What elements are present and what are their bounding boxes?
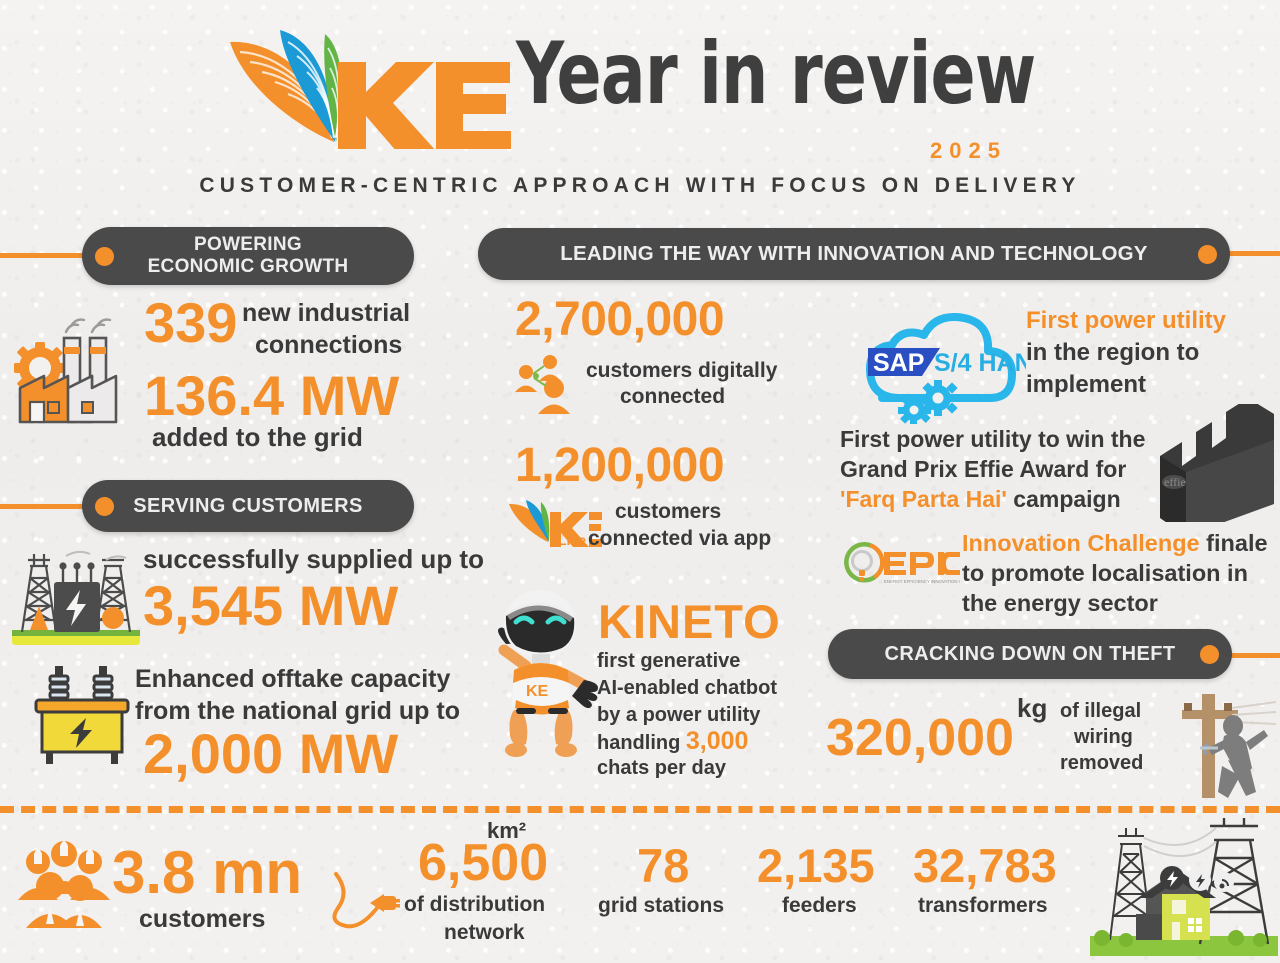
lineman-pole-icon — [1172, 688, 1280, 798]
stat-label-mw-added: added to the grid — [152, 422, 363, 453]
effie-campaign-suffix: campaign — [1007, 486, 1121, 512]
stat-value-offtake-mw: 2,000 MW — [143, 726, 398, 782]
epic-logo-icon: ENERGY EFFICIENCY INNOVATION CHALLENGE — [838, 536, 960, 590]
sap-claim-highlight: First power utility — [1026, 305, 1226, 337]
stat-label-supplied: successfully supplied up to — [143, 544, 484, 575]
section-heading-serving-customers: SERVING CUSTOMERS — [82, 480, 414, 532]
dashed-divider — [0, 806, 1280, 813]
stat-value-app-connected: 1,200,000 — [515, 442, 724, 490]
pill-label-line2: ECONOMIC GROWTH — [148, 256, 349, 278]
effie-line-3: 'Farq Parta Hai' campaign — [840, 484, 1121, 515]
stat-label-new-industrial-1: new industrial — [242, 297, 410, 329]
stat-value-new-industrial-connections: 339 — [144, 295, 237, 351]
stat-label-digitally-connected-1: customers digitally — [586, 356, 777, 385]
infographic-page: Year in review 2025 CUSTOMER-CENTRIC APP… — [0, 0, 1280, 960]
epic-line-1: Innovation Challenge finale — [962, 528, 1268, 559]
section-heading-theft: CRACKING DOWN ON THEFT — [828, 629, 1232, 679]
effie-line-2: Grand Prix Effie Award for — [840, 454, 1126, 485]
stat-value-digitally-connected: 2,700,000 — [515, 296, 724, 344]
sap-logo-text: SAP — [873, 349, 924, 377]
kineto-handling-label: handling — [597, 732, 686, 754]
effie-trophy-label: effie — [1164, 475, 1186, 489]
footer-stat-value-3: 2,135 — [757, 838, 875, 893]
subtitle: CUSTOMER-CENTRIC APPROACH WITH FOCUS ON … — [0, 174, 1280, 198]
page-title: Year in review — [516, 28, 1035, 120]
stat-label-app-connected-2: connected via app — [588, 524, 771, 553]
year-label: 2025 — [930, 138, 1007, 164]
pill-label: SERVING CUSTOMERS — [133, 495, 362, 518]
stat-label-new-industrial-2: connections — [255, 329, 402, 361]
ke-live-label: Live — [558, 532, 586, 548]
stat-unit-kg: kg — [1017, 693, 1047, 724]
sap-product-text: S/4 HANA — [934, 349, 1026, 377]
connector-dot — [1200, 645, 1219, 664]
people-group-icon — [14, 840, 120, 930]
footer-stat-label-0: customers — [139, 905, 265, 934]
footer-stat-label-1-line1: of distribution — [404, 893, 545, 917]
pill-label: CRACKING DOWN ON THEFT — [885, 643, 1176, 666]
epic-line-3: the energy sector — [962, 588, 1158, 619]
stat-label-theft-3: removed — [1060, 750, 1143, 776]
svg-text:ENERGY EFFICIENCY INNOVATION C: ENERGY EFFICIENCY INNOVATION CHALLENGE — [884, 579, 960, 584]
stat-label-offtake-1: Enhanced offtake capacity — [135, 663, 455, 695]
sap-cloud-icon: SAP S/4 HANA — [846, 286, 1026, 424]
footer-stat-value-1: 6,500 — [418, 833, 548, 893]
footer-stat-label-4: transformers — [918, 894, 1048, 918]
footer-stat-unit-1: km² — [487, 818, 526, 844]
kineto-line-2: AI-enabled chatbot — [597, 675, 777, 702]
network-people-icon — [512, 352, 582, 414]
kineto-title: KINETO — [598, 594, 781, 649]
pylon-substation-icon — [10, 542, 142, 648]
transformer-icon — [26, 662, 138, 766]
footer-stat-value-2: 78 — [637, 838, 689, 893]
factory-gear-icon — [8, 310, 138, 430]
stat-label-theft-1: of illegal — [1060, 698, 1141, 724]
connector-dot — [1198, 245, 1217, 264]
section-heading-powering-economic-growth: POWERING ECONOMIC GROWTH — [82, 227, 414, 285]
kineto-chats-value: 3,000 — [686, 727, 749, 755]
header: Year in review 2025 CUSTOMER-CENTRIC APP… — [0, 0, 1280, 210]
kineto-line-4: handling 3,000 — [597, 728, 748, 757]
stat-label-app-connected-1: customers — [615, 497, 721, 526]
stat-value-supplied-mw: 3,545 MW — [143, 578, 398, 634]
footer-stat-label-2: grid stations — [598, 894, 724, 918]
robot-mascot-icon: KE — [482, 582, 608, 760]
pill-label-line1: POWERING — [194, 234, 302, 256]
kineto-line-3: by a power utility — [597, 702, 760, 729]
stat-label-theft-2: wiring — [1074, 724, 1133, 750]
epic-line-2: to promote localisation in — [962, 558, 1248, 589]
pill-label: LEADING THE WAY WITH INNOVATION AND TECH… — [560, 242, 1147, 266]
effie-campaign-name: 'Farq Parta Hai' — [840, 486, 1007, 512]
stat-value-illegal-wiring: 320,000 — [826, 712, 1014, 764]
svg-text:KE: KE — [526, 683, 549, 700]
kineto-line-1: first generative — [597, 648, 740, 675]
section-heading-innovation: LEADING THE WAY WITH INNOVATION AND TECH… — [478, 228, 1230, 280]
epic-challenge-name: Innovation Challenge — [962, 530, 1200, 556]
house-pylon-icon — [1088, 818, 1280, 958]
stat-label-digitally-connected-2: connected — [620, 382, 725, 411]
connector-dot — [95, 247, 114, 266]
sap-claim-line-3: implement — [1026, 369, 1146, 401]
footer-stat-value-0: 3.8 mn — [112, 838, 302, 907]
ke-logo — [222, 24, 512, 149]
sap-claim-line-2: in the region to — [1026, 337, 1199, 369]
effie-line-1: First power utility to win the — [840, 424, 1145, 455]
kineto-line-5: chats per day — [597, 755, 726, 782]
epic-challenge-suffix: finale — [1200, 530, 1268, 556]
footer-stat-value-4: 32,783 — [913, 838, 1057, 893]
connector-dot — [95, 497, 114, 516]
stat-value-mw-added: 136.4 MW — [144, 368, 399, 424]
effie-trophy-icon: effie — [1152, 404, 1280, 522]
footer-stat-label-3: feeders — [782, 894, 857, 918]
footer-stat-label-1-line2: network — [444, 921, 525, 945]
